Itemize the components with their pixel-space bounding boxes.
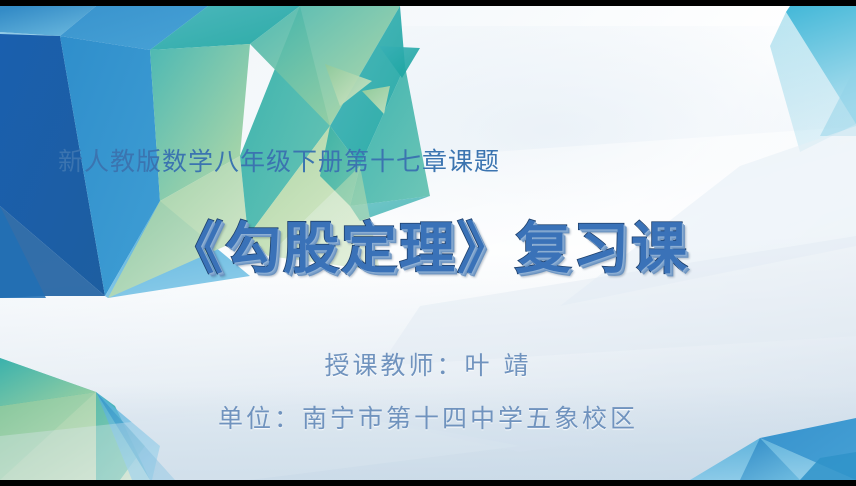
letterbox-bar-bottom <box>0 480 856 486</box>
byline-school: 单位：南宁市第十四中学五象校区 <box>0 404 856 434</box>
course-subtitle-line: 新人教版数学八年级下册第十七章课题 <box>58 148 500 177</box>
byline-teacher: 授课教师：叶 靖 <box>0 351 856 381</box>
slide-text-layer: 新人教版数学八年级下册第十七章课题 《勾股定理》复习课 授课教师：叶 靖 单位：… <box>0 6 856 480</box>
letterbox-bar-top <box>0 0 856 6</box>
page-title: 《勾股定理》复习课 <box>0 221 856 280</box>
slide-canvas: 新人教版数学八年级下册第十七章课题 《勾股定理》复习课 授课教师：叶 靖 单位：… <box>0 6 856 480</box>
presentation-slide: 新人教版数学八年级下册第十七章课题 《勾股定理》复习课 授课教师：叶 靖 单位：… <box>0 0 856 486</box>
